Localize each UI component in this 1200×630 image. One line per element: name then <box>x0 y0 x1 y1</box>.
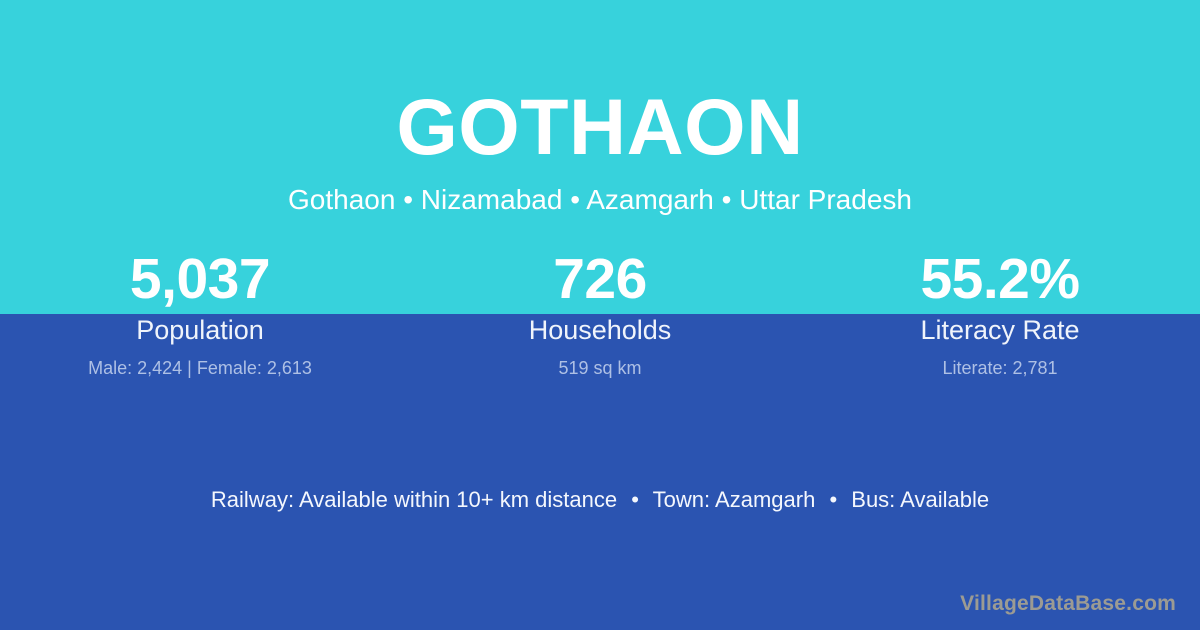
site-brand-watermark: VillageDataBase.com <box>960 590 1176 618</box>
card-content: GOTHAON Gothaon • Nizamabad • Azamgarh •… <box>0 0 1200 630</box>
stat-label: Households <box>400 313 800 347</box>
stats-row: 5,037 Population Male: 2,424 | Female: 2… <box>0 246 1200 380</box>
town-info: Town: Azamgarh <box>653 487 816 512</box>
railway-info: Railway: Available within 10+ km distanc… <box>211 487 617 512</box>
stat-value: 55.2% <box>800 246 1200 312</box>
stat-subtext: Literate: 2,781 <box>800 356 1200 380</box>
bullet-separator-icon: • <box>821 487 845 512</box>
amenities-info-line: Railway: Available within 10+ km distanc… <box>0 484 1200 516</box>
page-title: GOTHAON <box>0 84 1200 170</box>
stat-value: 5,037 <box>0 246 400 312</box>
stat-label: Literacy Rate <box>800 313 1200 347</box>
bus-info: Bus: Available <box>851 487 989 512</box>
stat-population: 5,037 Population Male: 2,424 | Female: 2… <box>0 246 400 380</box>
stat-households: 726 Households 519 sq km <box>400 246 800 380</box>
stat-subtext: Male: 2,424 | Female: 2,613 <box>0 356 400 380</box>
breadcrumb: Gothaon • Nizamabad • Azamgarh • Uttar P… <box>0 182 1200 218</box>
stat-value: 726 <box>400 246 800 312</box>
stat-literacy-rate: 55.2% Literacy Rate Literate: 2,781 <box>800 246 1200 380</box>
village-info-card: GOTHAON Gothaon • Nizamabad • Azamgarh •… <box>0 0 1200 630</box>
stat-subtext: 519 sq km <box>400 356 800 380</box>
bullet-separator-icon: • <box>623 487 647 512</box>
stat-label: Population <box>0 313 400 347</box>
